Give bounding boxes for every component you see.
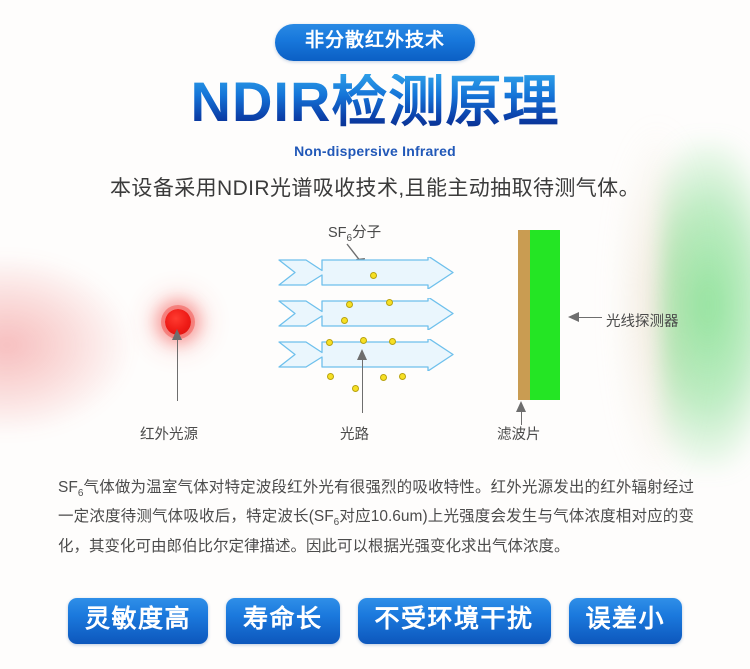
label-light-path: 光路 [340, 423, 369, 444]
detector-panel [530, 230, 560, 400]
sf6-molecule-dot [352, 385, 359, 392]
description-paragraph: SF6气体做为温室气体对特定波段红外光有很强烈的吸收特性。红外光源发出的红外辐射… [58, 474, 694, 561]
sf6-molecule-dot [399, 373, 406, 380]
sf6-molecule-dot [341, 317, 348, 324]
feature-badge-error[interactable]: 误差小 [569, 598, 683, 644]
sf6-molecule-dot [370, 272, 377, 279]
ir-source-pointer-line [177, 333, 178, 401]
optical-filter-plate [518, 230, 530, 400]
light-beam-arrow-2-icon [278, 298, 454, 330]
sf6-molecule-dot [386, 299, 393, 306]
paragraph-segment-1: SF [58, 479, 78, 496]
feature-badge-interference[interactable]: 不受环境干扰 [358, 598, 551, 644]
filter-pointer-line [521, 405, 522, 425]
light-path-pointer-line [362, 353, 363, 413]
infographic-page: 非分散红外技术 NDIR检测原理 Non-dispersive Infrared… [0, 0, 750, 669]
section-badge: 非分散红外技术 [275, 24, 475, 61]
ndir-principle-diagram: SF6分子 红外光源 [0, 205, 750, 455]
feature-badge-sensitivity[interactable]: 灵敏度高 [68, 598, 208, 644]
label-light-detector: 光线探测器 [606, 310, 679, 331]
lead-statement: 本设备采用NDIR光谱吸收技术,且能主动抽取待测气体。 [0, 172, 750, 202]
detector-pointer-line [572, 317, 602, 318]
sf6-molecule-dot [326, 339, 333, 346]
label-infrared-source: 红外光源 [140, 423, 198, 444]
page-subtitle: Non-dispersive Infrared [0, 143, 750, 159]
page-title: NDIR检测原理 [0, 74, 750, 130]
label-sf6-suffix: 分子 [352, 225, 381, 241]
label-filter-plate: 滤波片 [497, 423, 541, 444]
sf6-molecule-dot [327, 373, 334, 380]
feature-badge-row: 灵敏度高 寿命长 不受环境干扰 误差小 [0, 592, 750, 650]
sf6-molecule-dot [389, 338, 396, 345]
label-sf6-molecule-text: SF [328, 225, 347, 241]
feature-badge-lifespan[interactable]: 寿命长 [226, 598, 340, 644]
sf6-molecule-dot [360, 337, 367, 344]
sf6-molecule-dot [346, 301, 353, 308]
light-beam-arrow-1-icon [278, 257, 454, 289]
label-sf6-molecule: SF6分子 [328, 221, 381, 244]
sf6-molecule-dot [380, 374, 387, 381]
